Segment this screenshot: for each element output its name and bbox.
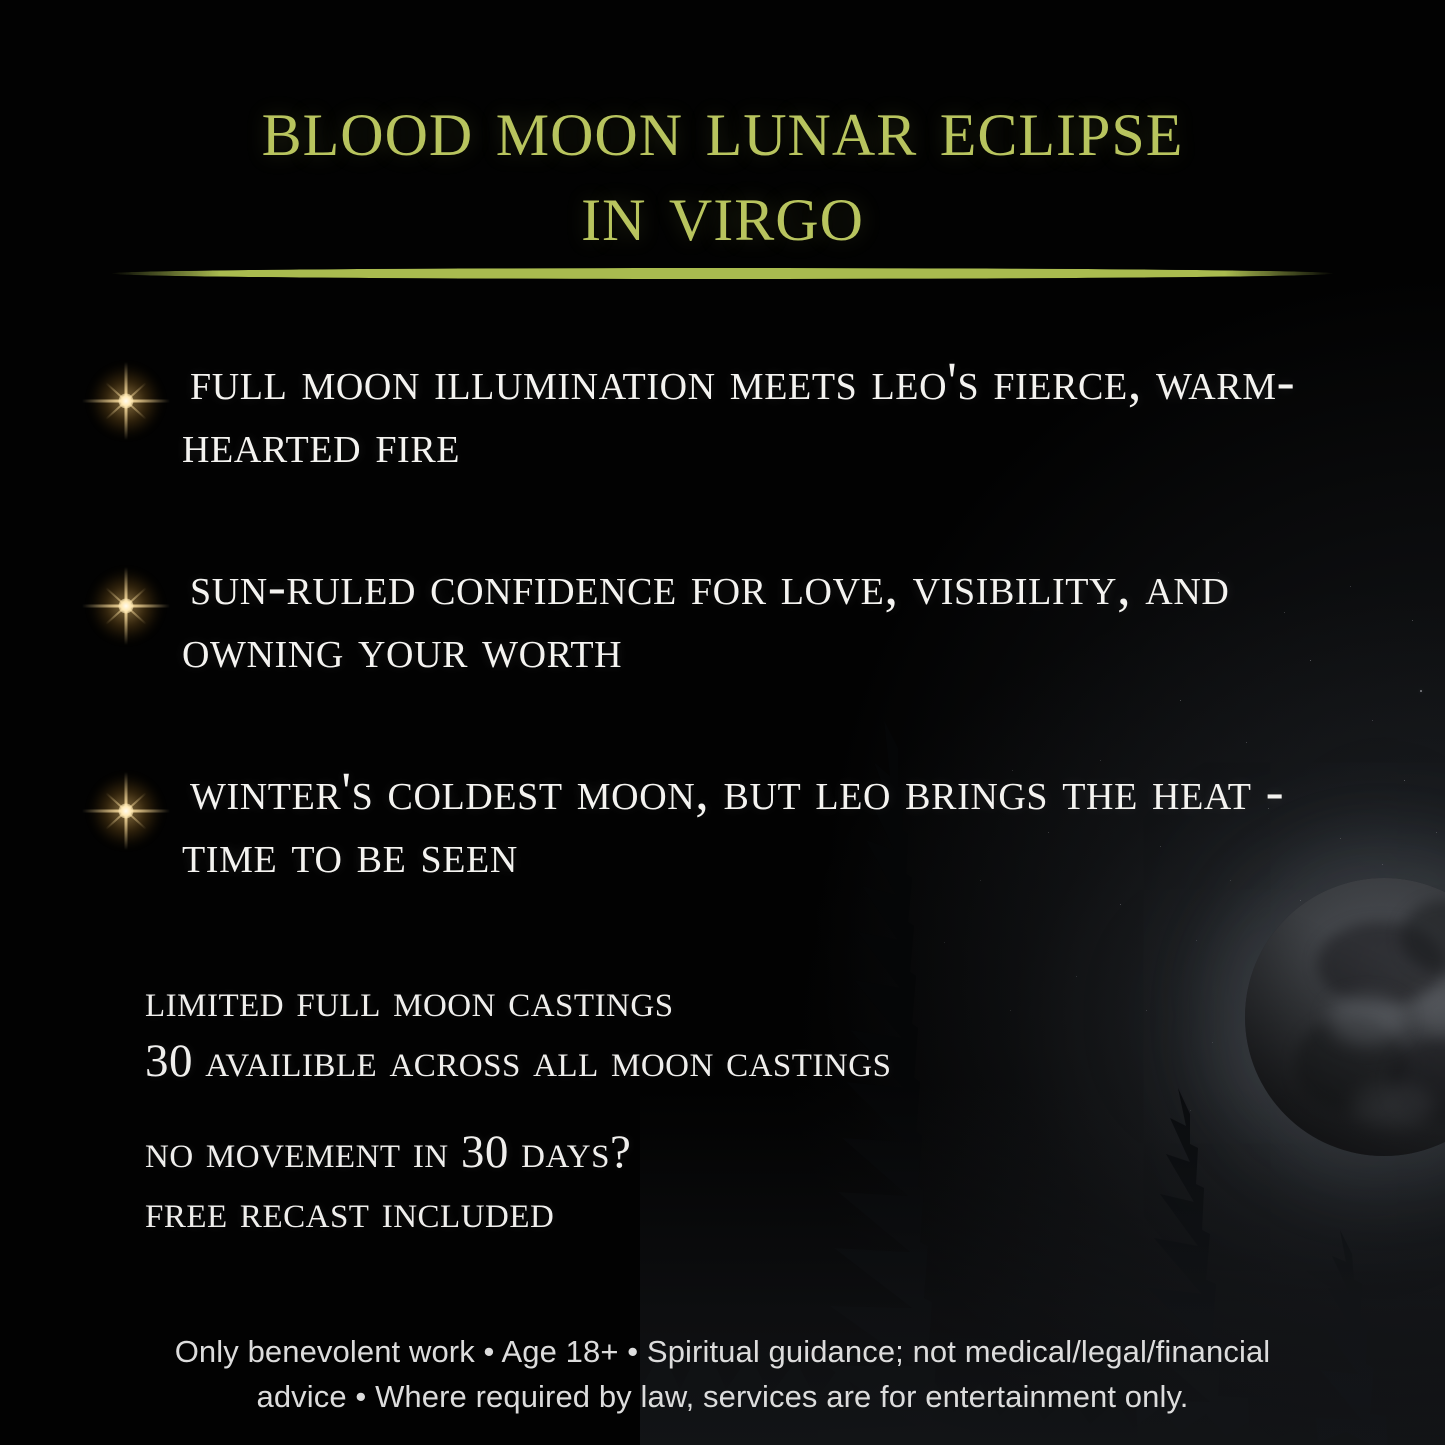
list-item: Full Moon illumination meets Leo's fierc… (0, 350, 1445, 555)
list-item: Winter's coldest moon, but Leo brings th… (0, 760, 1445, 965)
list-item: Sun-ruled confidence for love, visibilit… (0, 555, 1445, 760)
bullet-line-1: Sun-ruled confidence for love, visibilit… (182, 556, 1131, 616)
title-line-2: in Virgo (70, 169, 1375, 254)
bullet-line-1: Winter's coldest moon, but Leo brings th… (182, 761, 1138, 821)
castings-info-block: Limited Full Moon castings 30 availible … (145, 972, 891, 1091)
bullet-text: Winter's coldest moon, but Leo brings th… (182, 760, 1322, 885)
recast-info-block: No movement in 30 days? Free recast incl… (145, 1123, 631, 1242)
bullet-text: Full Moon illumination meets Leo's fierc… (182, 350, 1322, 475)
title-line-1: Blood Moon Lunar Eclipse (262, 78, 1184, 174)
bullet-text: Sun-ruled confidence for love, visibilit… (182, 555, 1322, 680)
poster-canvas: Blood Moon Lunar Eclipse in Virgo Full M… (0, 0, 1445, 1445)
sparkle-star-icon (82, 767, 170, 855)
disclaimer-line-2: advice • Where required by law, services… (110, 1375, 1335, 1420)
recast-line-1: No movement in 30 days? (145, 1123, 631, 1183)
bullet-line-1: Full Moon illumination meets Leo's (182, 351, 979, 411)
recast-line-2: Free recast included (145, 1183, 631, 1243)
sparkle-star-icon (82, 357, 170, 445)
disclaimer-footer: Only benevolent work • Age 18+ • Spiritu… (110, 1330, 1335, 1419)
bullet-list: Full Moon illumination meets Leo's fierc… (0, 350, 1445, 965)
disclaimer-line-1: Only benevolent work • Age 18+ • Spiritu… (110, 1330, 1335, 1375)
page-title: Blood Moon Lunar Eclipse in Virgo (70, 84, 1375, 254)
title-divider (110, 268, 1335, 279)
castings-line-1: Limited Full Moon castings (145, 972, 891, 1032)
castings-line-2: 30 availible across all moon castings (145, 1032, 891, 1092)
sparkle-star-icon (82, 562, 170, 650)
